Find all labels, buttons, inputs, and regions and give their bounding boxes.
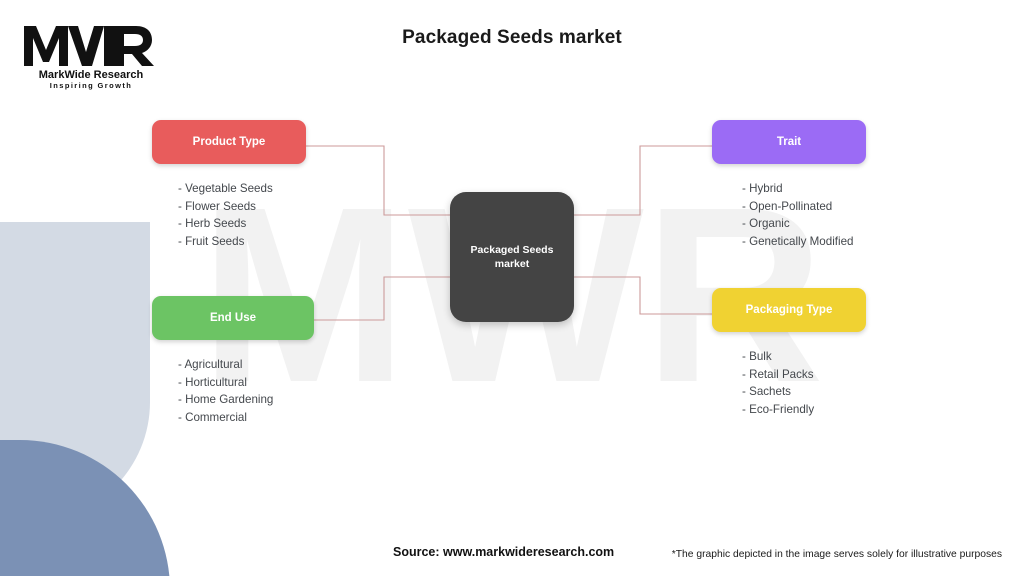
branch-end-use-items: - Agricultural - Horticultural - Home Ga… bbox=[152, 356, 314, 426]
list-item: - Open-Pollinated bbox=[742, 198, 866, 216]
list-item: - Commercial bbox=[178, 409, 314, 427]
source-text: Source: www.markwideresearch.com bbox=[393, 545, 614, 559]
list-item: - Genetically Modified bbox=[742, 233, 866, 251]
branch-end-use[interactable]: End Use - Agricultural - Horticultural -… bbox=[152, 296, 314, 426]
center-node-label: Packaged Seeds market bbox=[463, 243, 562, 271]
list-item: - Organic bbox=[742, 215, 866, 233]
branch-packaging-type-items: - Bulk - Retail Packs - Sachets - Eco-Fr… bbox=[712, 348, 866, 418]
branch-product-type[interactable]: Product Type - Vegetable Seeds - Flower … bbox=[152, 120, 306, 250]
branch-packaging-type[interactable]: Packaging Type - Bulk - Retail Packs - S… bbox=[712, 288, 866, 418]
list-item: - Retail Packs bbox=[742, 366, 866, 384]
list-item: - Home Gardening bbox=[178, 391, 314, 409]
branch-trait-header[interactable]: Trait bbox=[712, 120, 866, 164]
list-item: - Agricultural bbox=[178, 356, 314, 374]
center-node-label-line2: market bbox=[495, 258, 529, 270]
list-item: - Hybrid bbox=[742, 180, 866, 198]
branch-packaging-type-header[interactable]: Packaging Type bbox=[712, 288, 866, 332]
disclaimer-text: *The graphic depicted in the image serve… bbox=[672, 549, 1002, 560]
logo-company-name: MarkWide Research bbox=[39, 69, 144, 81]
logo-tagline: Inspiring Growth bbox=[50, 81, 132, 90]
list-item: - Vegetable Seeds bbox=[178, 180, 306, 198]
center-node-label-line1: Packaged Seeds bbox=[471, 244, 554, 256]
list-item: - Flower Seeds bbox=[178, 198, 306, 216]
list-item: - Bulk bbox=[742, 348, 866, 366]
list-item: - Fruit Seeds bbox=[178, 233, 306, 251]
list-item: - Eco-Friendly bbox=[742, 401, 866, 419]
branch-product-type-items: - Vegetable Seeds - Flower Seeds - Herb … bbox=[152, 180, 306, 250]
list-item: - Horticultural bbox=[178, 374, 314, 392]
list-item: - Herb Seeds bbox=[178, 215, 306, 233]
branch-product-type-header[interactable]: Product Type bbox=[152, 120, 306, 164]
branch-trait[interactable]: Trait - Hybrid - Open-Pollinated - Organ… bbox=[712, 120, 866, 250]
diagram-canvas: MWR MarkWide Research Inspiring Growth P… bbox=[0, 0, 1024, 576]
branch-end-use-header[interactable]: End Use bbox=[152, 296, 314, 340]
center-node[interactable]: Packaged Seeds market bbox=[450, 192, 574, 322]
connector-end-use bbox=[314, 277, 452, 320]
branch-trait-items: - Hybrid - Open-Pollinated - Organic - G… bbox=[712, 180, 866, 250]
page-title: Packaged Seeds market bbox=[0, 27, 1024, 49]
decorative-shape-dark bbox=[0, 440, 170, 576]
connector-product-type bbox=[306, 146, 452, 215]
list-item: - Sachets bbox=[742, 383, 866, 401]
